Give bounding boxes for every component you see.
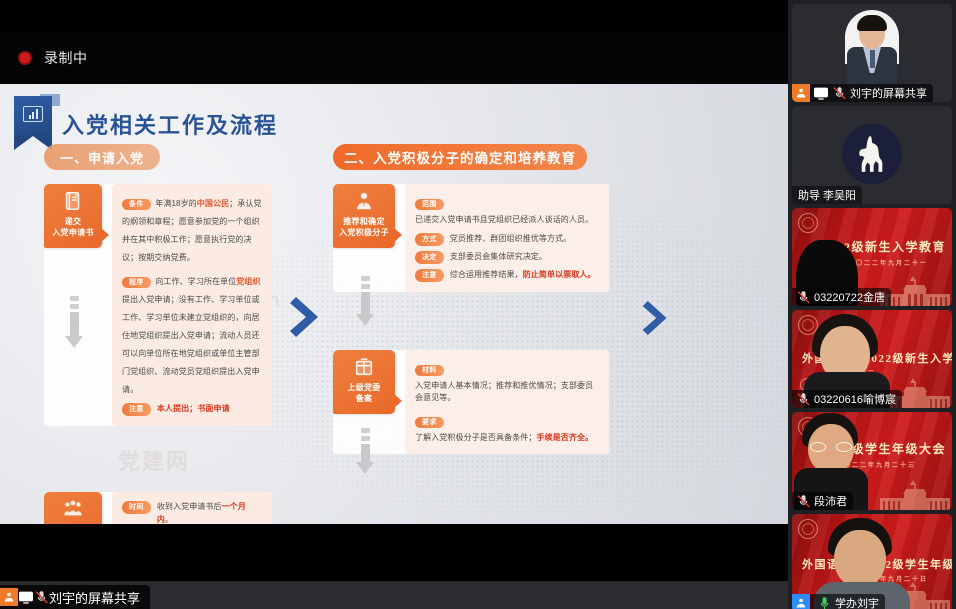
participants-filmstrip[interactable]: 刘宇的屏幕共享 助导 李吴阳 2022级新生入学教育 二〇二二年九月二十一 — [788, 0, 956, 609]
flow-tag-party-interview: 党组织派人谈话 — [44, 492, 102, 524]
flow-card-2-1: 推荐和确定入党积极分子 范围 已递交入党申请书且党组织已经派人谈话的人员。 方式… — [333, 184, 609, 292]
participant-tile[interactable]: 外国语学院2022级新生入学教育 二〇二二 — [792, 310, 952, 408]
panel-row: 条件 年满18岁的中国公民；承认党的纲领和章程；愿意参加党的一个组织并在其中积极… — [122, 193, 262, 265]
panel-chip: 注意 — [415, 269, 444, 282]
video-banner-subtitle: 二〇二二年九月二十一 — [848, 258, 928, 267]
panel-text-highlight: 防止简单以票取人。 — [523, 270, 596, 279]
panel-text-highlight: 党组织 — [236, 277, 260, 286]
avatar — [841, 10, 903, 88]
panel-text-highlight: 中国公民 — [197, 199, 229, 208]
panel-text: 党员推荐、群团组织推优等方式。 — [450, 233, 572, 246]
panel-row: 决定 支部委员会集体研究决定。 — [415, 251, 599, 264]
share-owner-label: 刘宇的屏幕共享 — [49, 588, 150, 607]
panel-text: 综合运用推荐结果， — [450, 270, 523, 279]
flow-card-1-2: 党组织派人谈话 时间 收到入党申请书后一个月内。 主体 党支部书记、副书记或组织… — [44, 492, 272, 524]
flow-tag-recommend-activist: 推荐和确定入党积极分子 — [333, 184, 395, 248]
mic-muted-icon — [796, 391, 811, 407]
mic-muted-icon — [796, 493, 811, 509]
share-screen-icon — [813, 85, 829, 101]
panel-chip: 要求 — [415, 417, 444, 428]
screen-share-status-pill: 刘宇的屏幕共享 — [0, 585, 150, 609]
panel-chip: 决定 — [415, 251, 444, 264]
flow-panel-2-2: 材料 入党申请人基本情况；推荐和推优情况；支部委员会意见等。 要求 了解入党积极… — [405, 350, 609, 455]
participant-name: 03220616喻博宸 — [814, 391, 896, 407]
panel-chip: 时间 — [122, 501, 151, 514]
participant-name-bar: 03220616喻博宸 — [792, 390, 902, 408]
panel-text: 了解入党积极分子是否具备条件； — [415, 433, 537, 442]
participant-name: 03220722金唐 — [814, 289, 885, 305]
panel-chip: 材料 — [415, 365, 444, 376]
building-graphic — [880, 478, 950, 510]
flow-tag-upper-party-filing: 上级党委备案 — [333, 350, 395, 414]
participant-tile[interactable]: 2022级新生入学教育 二〇二二年九月二十一 — [792, 208, 952, 306]
participant-tile[interactable]: 刘宇的屏幕共享 — [792, 4, 952, 102]
slide-column-1: 一、申请入党 递交入党申请书 — [44, 144, 272, 524]
blue-person-icon — [792, 594, 810, 609]
panel-row: 注意 本人提出；书面申请 — [122, 403, 262, 416]
participant-name: 学办刘宇 — [835, 595, 879, 609]
participant-tile[interactable]: 助导 李吴阳 — [792, 106, 952, 204]
people-talk-icon — [62, 498, 84, 520]
panel-chip: 程序 — [122, 277, 151, 288]
panel-chip: 注意 — [122, 403, 151, 416]
chevron-right-icon — [288, 293, 328, 341]
panel-text: 支部委员会集体研究决定。 — [450, 251, 547, 264]
record-dot-icon — [18, 51, 32, 65]
zoom-meeting-window: 录制中 党建网 dangjian 党建 党建网 入党相关工作及流程 一、申请入党 — [0, 0, 956, 609]
participant-name-bar: 03220722金唐 — [792, 288, 891, 306]
llama-avatar-icon — [842, 124, 902, 184]
section-heading-1: 一、申请入党 — [44, 144, 160, 170]
participant-name-bar: 刘宇的屏幕共享 — [792, 84, 933, 102]
panel-text-tail: 。 — [165, 515, 173, 524]
panel-chip: 方式 — [415, 233, 444, 246]
panel-row: 程序 向工作、学习所在单位党组织提出入党申请；没有工作、学习单位或工作、学习单位… — [122, 271, 262, 397]
flow-arrow-down-icon — [357, 276, 373, 326]
presentation-slide: 党建网 dangjian 党建 党建网 入党相关工作及流程 一、申请入党 — [0, 84, 788, 524]
section-heading-2: 二、入党积极分子的确定和培养教育 — [333, 144, 587, 170]
participant-name: 刘宇的屏幕共享 — [850, 85, 927, 101]
host-icon — [792, 84, 810, 102]
flow-tag-submit-application: 递交入党申请书 — [44, 184, 102, 248]
person-badge-icon — [353, 190, 375, 212]
flow-panel-2-1: 范围 已递交入党申请书且党组织已经派人谈话的人员。 方式 党员推荐、群团组织推优… — [405, 184, 609, 292]
panel-chip: 条件 — [122, 199, 151, 210]
flow-panel-1-2: 时间 收到入党申请书后一个月内。 主体 党支部书记、副书记或组织委员。 内容 了… — [112, 492, 272, 524]
share-screen-icon — [18, 589, 34, 605]
flow-tag-label: 推荐和确定入党积极分子 — [339, 216, 389, 238]
flow-panel-1-1: 条件 年满18岁的中国公民；承认党的纲领和章程；愿意参加党的一个组织并在其中积极… — [112, 184, 272, 426]
panel-row: 要求 了解入党积极分子是否具备条件；手续是否齐全。 — [415, 411, 599, 445]
panel-text: 收到入党申请书后 — [157, 502, 222, 511]
panel-row: 时间 收到入党申请书后一个月内。 — [122, 501, 262, 524]
panel-row: 方式 党员推荐、群团组织推优等方式。 — [415, 233, 599, 246]
panel-text-highlight: 手续是否齐全。 — [537, 433, 594, 442]
panel-row: 注意 综合运用推荐结果，防止简单以票取人。 — [415, 269, 599, 282]
mic-muted-icon — [34, 589, 49, 605]
panel-text: 入党申请人基本情况；推荐和推优情况；支部委员会意见等。 — [415, 380, 599, 405]
mic-muted-icon — [832, 85, 847, 101]
emblem-icon — [798, 213, 818, 233]
panel-text-tail: 提出入党申请；没有工作、学习单位或工作、学习单位未建立党组织的，向居住地党组织提… — [122, 295, 260, 394]
shared-screen-stage: 录制中 党建网 dangjian 党建 党建网 入党相关工作及流程 一、申请入党 — [0, 0, 788, 609]
panel-text-highlight: 本人提出；书面申请 — [157, 404, 230, 413]
slide-column-2: 二、入党积极分子的确定和培养教育 推荐和确定入党积极分子 — [333, 144, 609, 454]
chevron-right-icon — [641, 297, 675, 339]
participant-name-bar: 助导 李吴阳 — [792, 186, 862, 204]
stage-letterbox — [0, 524, 788, 581]
participant-tile[interactable]: 外国语学院2022级学生年级大会 二〇二二年九月二十日 — [792, 514, 952, 609]
participant-name-bar: 段沛君 — [792, 492, 853, 510]
mic-on-icon — [817, 595, 832, 609]
flow-tag-label: 上级党委备案 — [347, 382, 380, 404]
flow-arrow-down-icon — [66, 296, 82, 348]
book-icon — [62, 190, 84, 212]
panel-chip: 范围 — [415, 199, 444, 210]
panel-text: 向工作、学习所在单位 — [155, 277, 236, 286]
recording-label: 录制中 — [44, 48, 88, 68]
participant-name: 助导 李吴阳 — [798, 187, 856, 203]
flow-arrow-down-icon — [357, 428, 373, 474]
flow-card-2-2: 上级党委备案 材料 入党申请人基本情况；推荐和推优情况；支部委员会意见等。 要求… — [333, 350, 609, 455]
archive-box-icon — [353, 356, 375, 378]
participant-name: 段沛君 — [814, 493, 847, 509]
panel-row: 材料 入党申请人基本情况；推荐和推优情况；支部委员会意见等。 — [415, 359, 599, 405]
mic-muted-icon — [796, 289, 811, 305]
recording-indicator-bar: 录制中 — [0, 32, 788, 84]
flow-tag-label: 递交入党申请书 — [52, 216, 94, 238]
panel-text: 年满18岁的 — [155, 199, 197, 208]
panel-text: 已递交入党申请书且党组织已经派人谈话的人员。 — [415, 214, 599, 227]
panel-row: 范围 已递交入党申请书且党组织已经派人谈话的人员。 — [415, 193, 599, 227]
participant-tile[interactable]: 2022级学生年级大会 二〇二二年九月二十三 — [792, 412, 952, 510]
slide-title: 入党相关工作及流程 — [62, 108, 278, 140]
flow-card-1-1: 递交入党申请书 条件 年满18岁的中国公民；承认党的纲领和章程；愿意参加党的一个… — [44, 184, 272, 426]
participant-name-bar: 学办刘宇 — [792, 594, 885, 609]
host-icon — [0, 588, 18, 606]
